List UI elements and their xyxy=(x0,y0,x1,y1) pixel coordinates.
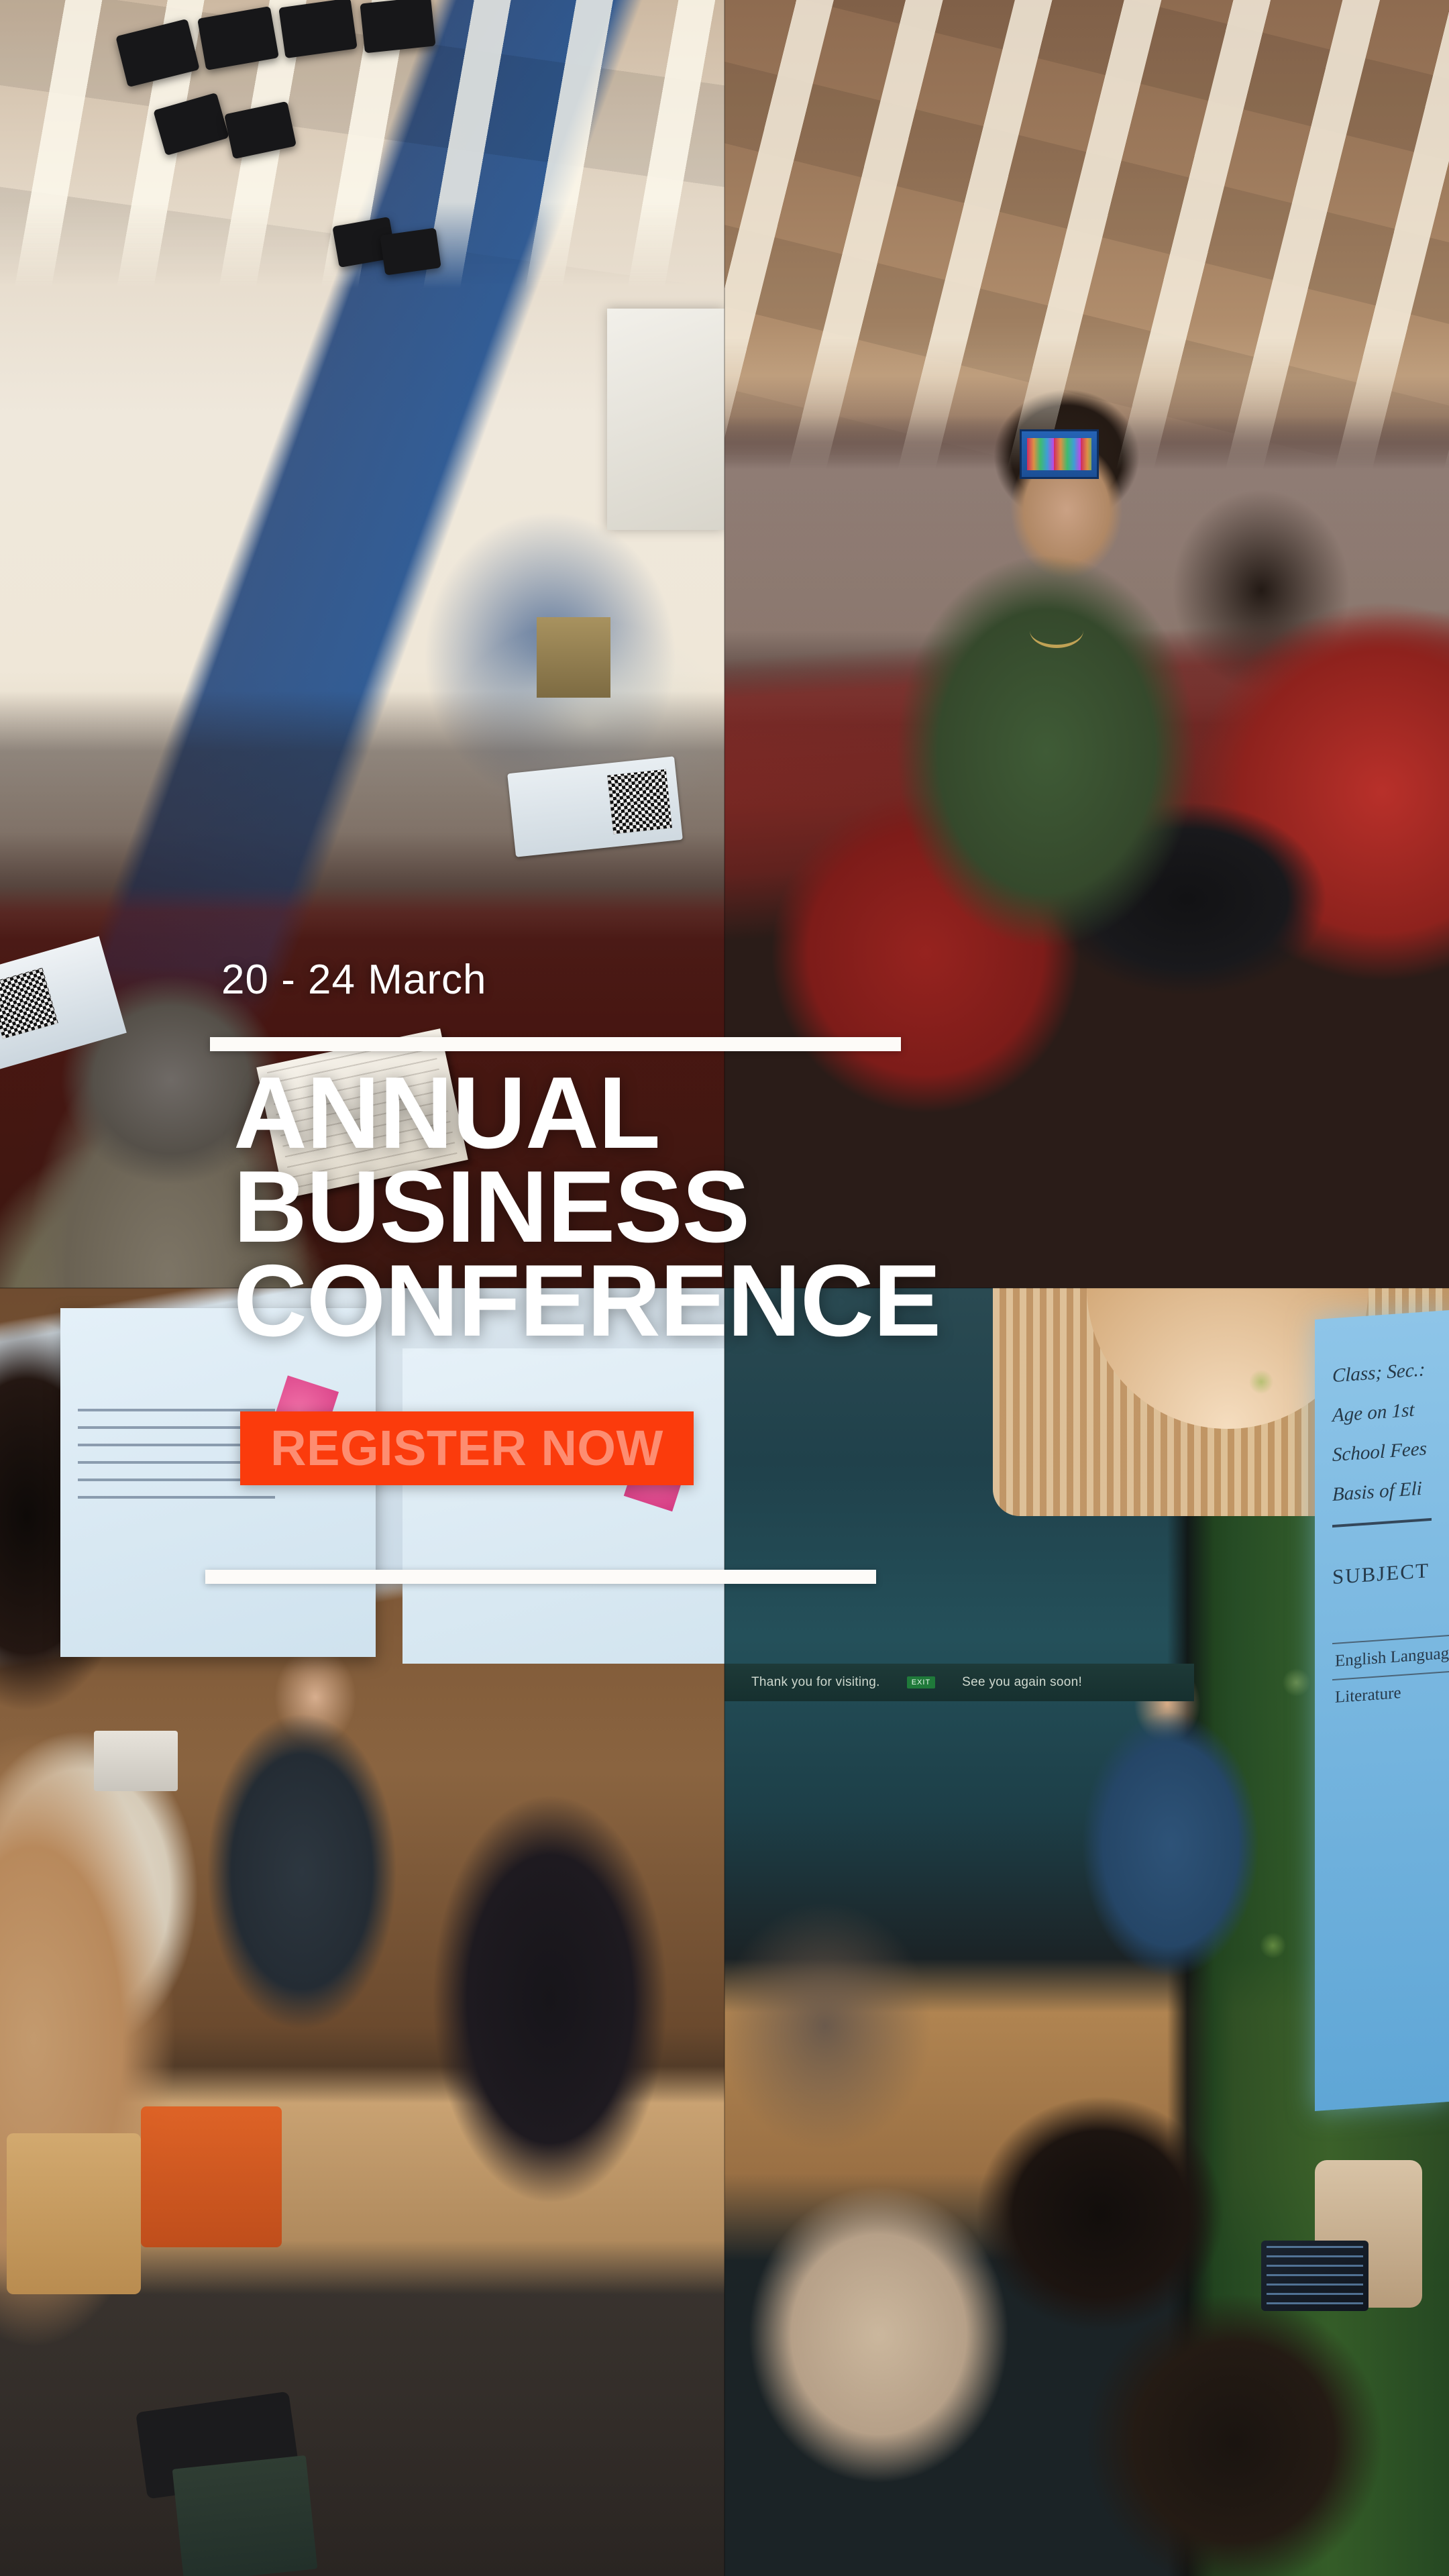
information-board: Class; Sec.: Age on 1st School Fees Basi… xyxy=(1315,1310,1449,2111)
photo-top-right xyxy=(724,0,1449,1288)
stage-spotlight-icon xyxy=(278,0,358,58)
projector-screen-right xyxy=(402,1348,724,1664)
tablet-device xyxy=(1261,2241,1368,2311)
qr-code-icon xyxy=(607,769,672,835)
board-line: Age on 1st xyxy=(1332,1397,1449,1427)
stage-spotlight-icon xyxy=(360,0,435,53)
collage-seam-horizontal xyxy=(0,1287,1449,1289)
ceiling-light-grid xyxy=(724,0,1449,470)
event-poster: Thank you for visiting. EXIT See you aga… xyxy=(0,0,1449,2576)
register-now-label: REGISTER NOW xyxy=(270,1424,663,1473)
banner-left-text: Thank you for visiting. xyxy=(751,1675,880,1690)
photo-top-left xyxy=(0,0,724,1288)
photo-bottom-right: Thank you for visiting. EXIT See you aga… xyxy=(724,1288,1449,2576)
seat-qr-sticker xyxy=(507,756,683,857)
necklace xyxy=(1030,631,1083,648)
wooden-chair xyxy=(7,2133,141,2294)
exit-sign-icon: EXIT xyxy=(907,1676,935,1688)
printed-papers xyxy=(256,1028,468,1199)
laptop xyxy=(94,1731,178,1791)
board-line: Class; Sec.: xyxy=(1332,1357,1449,1387)
qr-code-icon xyxy=(0,967,58,1038)
board-line: Basis of Eli xyxy=(1332,1476,1449,1506)
register-now-button[interactable]: REGISTER NOW xyxy=(240,1411,694,1485)
seat-qr-sticker xyxy=(0,936,127,1069)
board-line: School Fees xyxy=(1332,1436,1449,1466)
podium xyxy=(537,617,610,698)
banner-right-text: See you again soon! xyxy=(962,1675,1082,1690)
orange-chair xyxy=(141,2106,282,2247)
board-divider xyxy=(1332,1518,1432,1527)
board-row: Literature xyxy=(1332,1671,1449,1715)
hall-display-board xyxy=(1020,429,1099,479)
notebook xyxy=(172,2455,318,2576)
projection-screen xyxy=(607,309,724,530)
board-section-header: SUBJECT xyxy=(1332,1558,1426,1589)
wayfinding-banner: Thank you for visiting. EXIT See you aga… xyxy=(724,1664,1194,1701)
stage-spotlight-icon xyxy=(380,227,441,275)
